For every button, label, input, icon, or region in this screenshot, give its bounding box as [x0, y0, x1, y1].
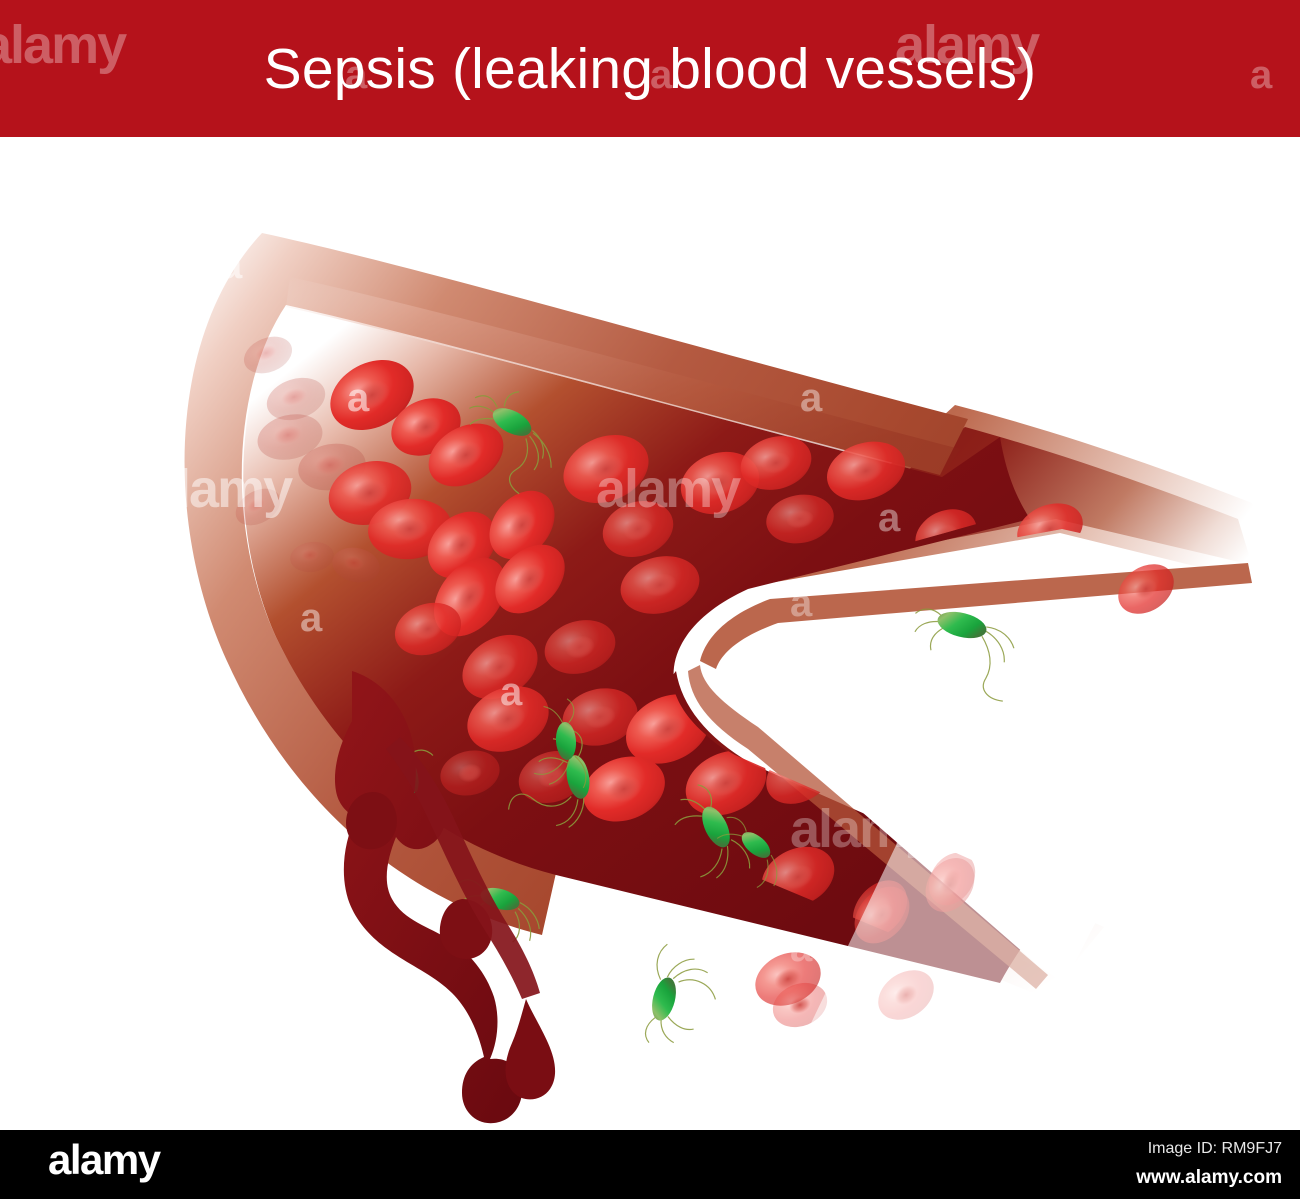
vessel-diagram-svg — [0, 137, 1300, 1130]
illustration-page: Sepsis (leaking blood vessels) — [0, 0, 1300, 1199]
footer-bar — [0, 1130, 1300, 1199]
page-title: Sepsis (leaking blood vessels) — [0, 0, 1300, 137]
left-fade-overlay — [0, 197, 300, 957]
alamy-url[interactable]: www.alamy.com — [1136, 1167, 1282, 1189]
image-id-label: Image ID: RM9FJ7 — [1148, 1140, 1282, 1158]
blood-drip-falling — [506, 999, 556, 1099]
flagella — [638, 943, 726, 1056]
bacterium — [638, 943, 726, 1056]
bacterium-body — [648, 975, 680, 1023]
blood-vessel-illustration — [0, 137, 1300, 1130]
title-banner: Sepsis (leaking blood vessels) — [0, 0, 1300, 137]
alamy-logo: alamy — [48, 1139, 160, 1181]
